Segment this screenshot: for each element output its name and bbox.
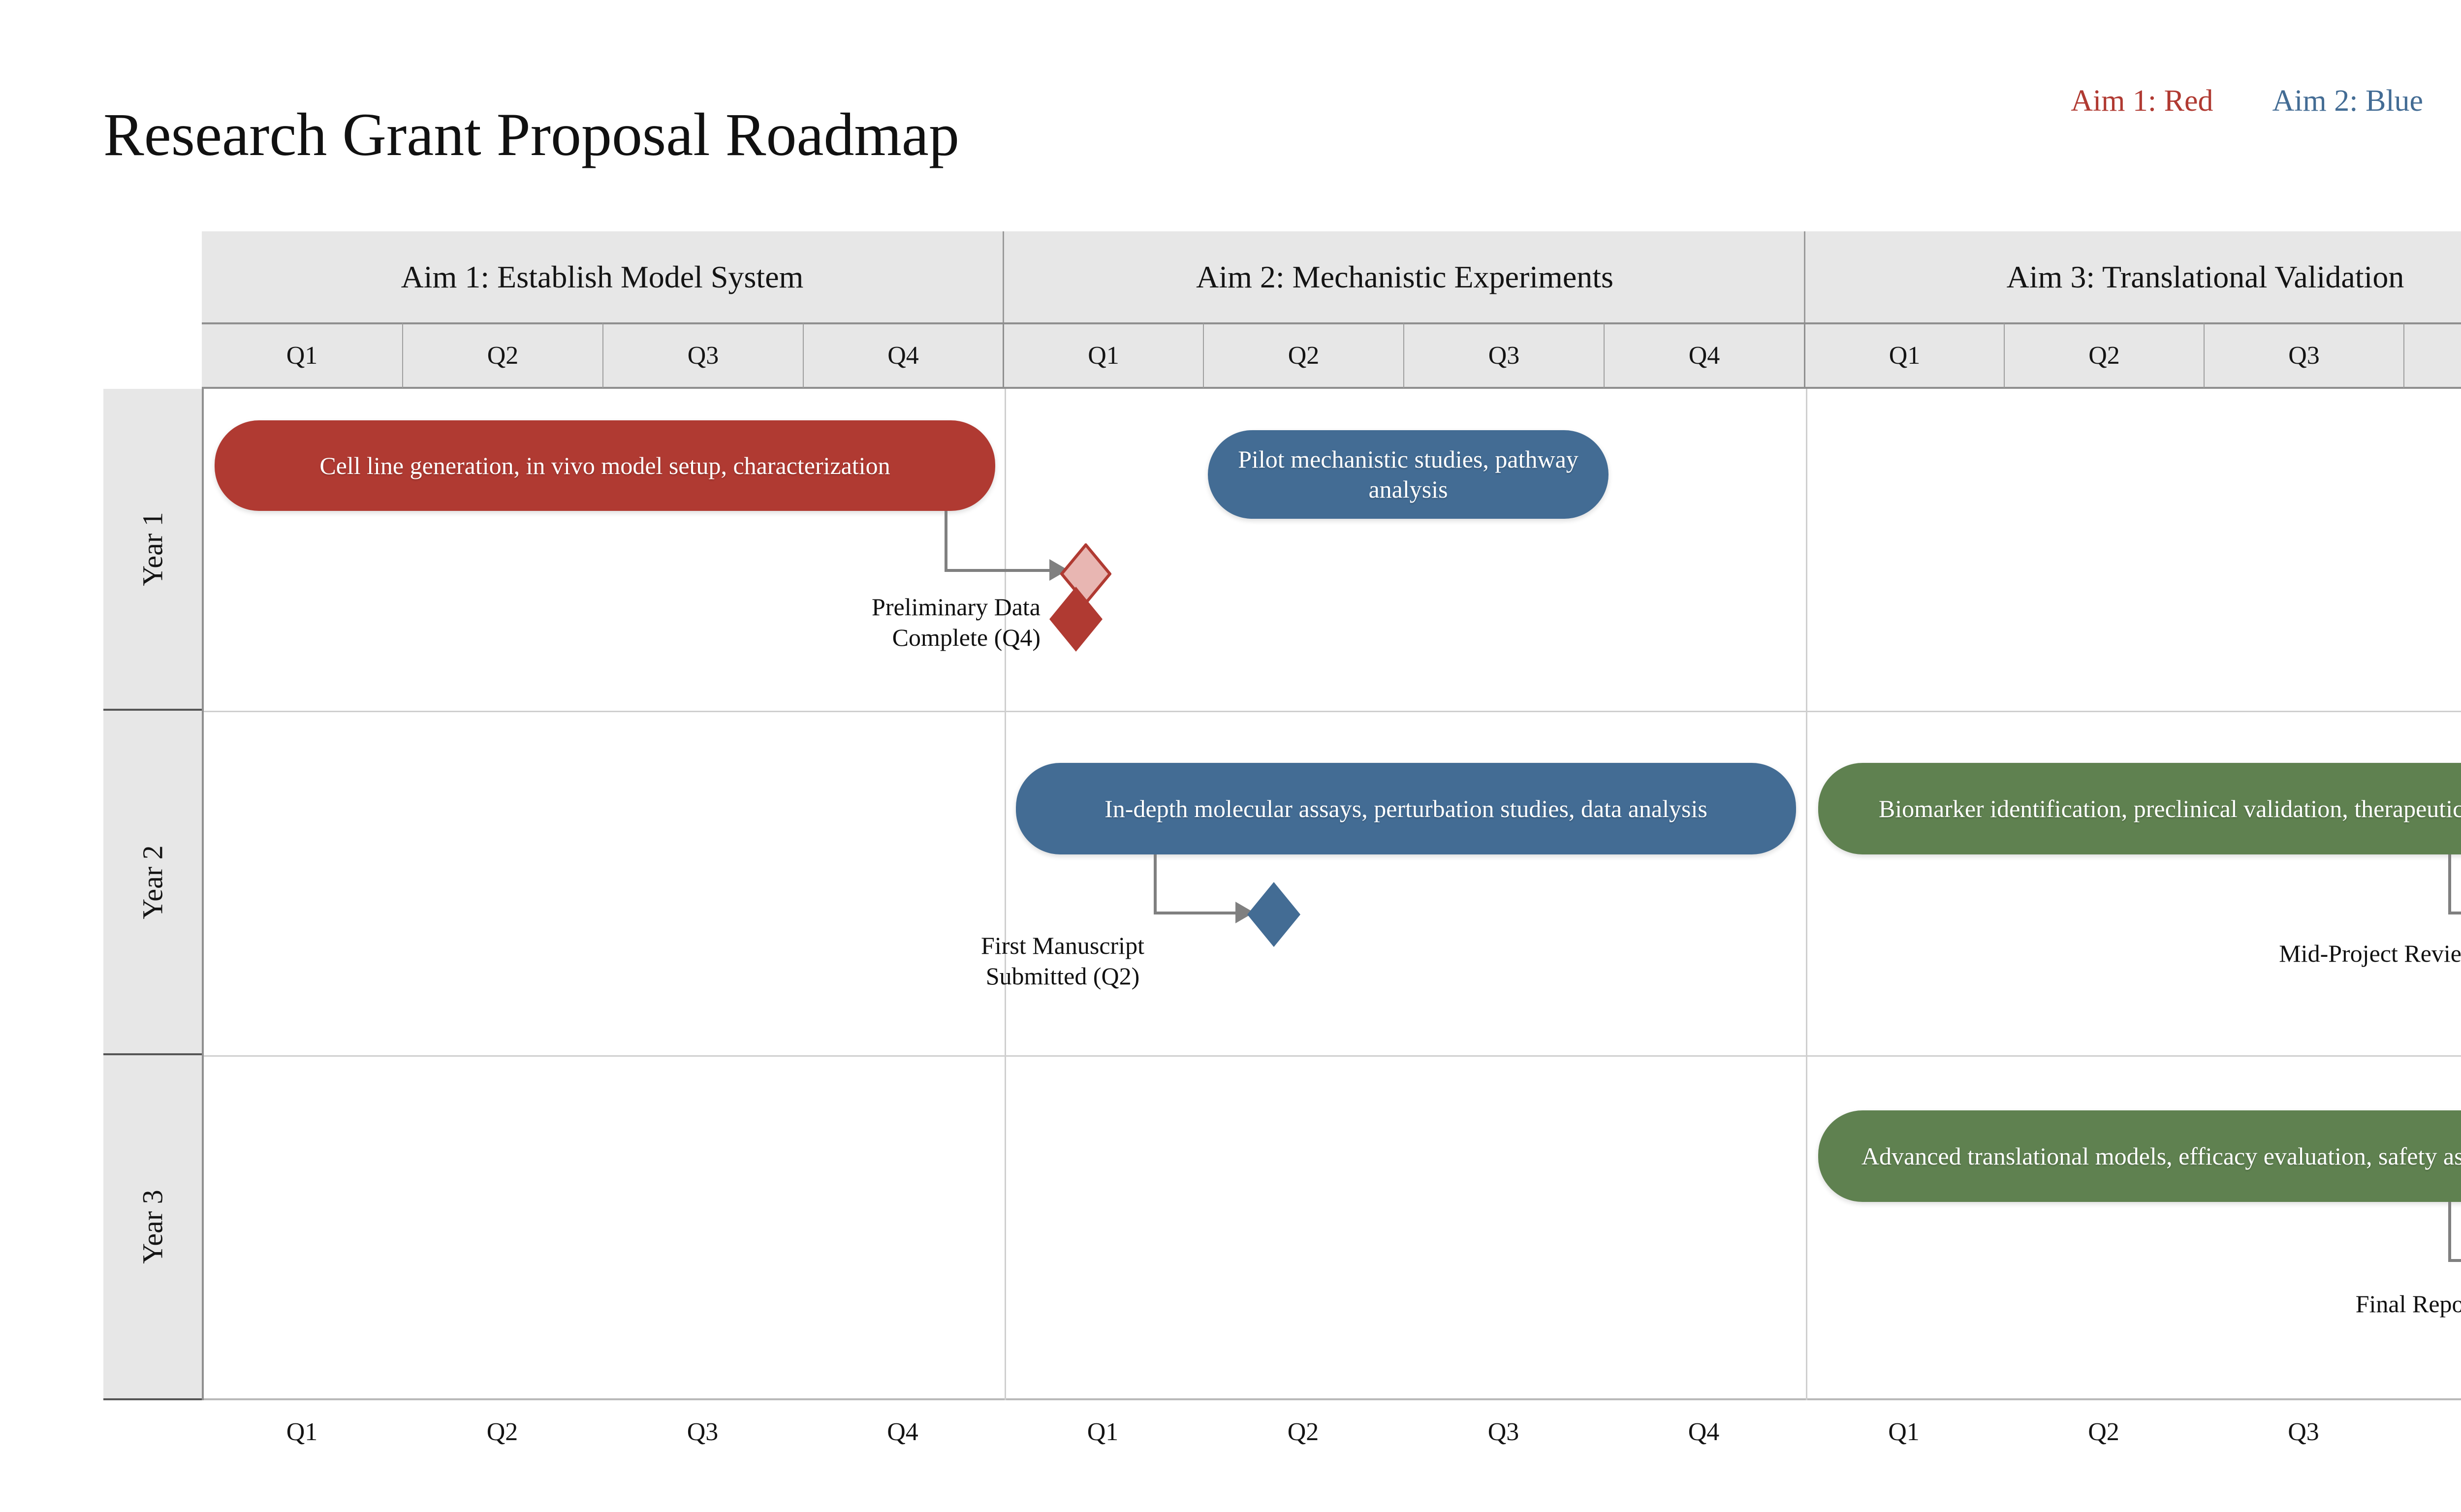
legend-item-aim1: Aim 1: Red xyxy=(2071,84,2213,119)
milestone-connector-h-m3 xyxy=(2448,912,2461,914)
quarter-axis: Q1 Q2 Q3 Q4 Q1 Q2 Q3 Q4 Q1 Q2 Q3 Q4 xyxy=(202,1417,2461,1472)
plot-area: Cell line generation, in vivo model setu… xyxy=(202,389,2461,1400)
task-bar-t3[interactable]: In-depth molecular assays, perturbation … xyxy=(1016,763,1796,854)
page-title: Research Grant Proposal Roadmap xyxy=(103,100,959,170)
aim-header-1: Aim 1: Establish Model System xyxy=(202,231,1003,322)
axis-tick-a2q4: Q4 xyxy=(1604,1417,1804,1447)
year-label-2: Year 2 xyxy=(136,845,169,919)
task-bar-t2[interactable]: Pilot mechanistic studies, pathway analy… xyxy=(1208,430,1609,519)
row-separator-1 xyxy=(204,711,2461,712)
quarter-header-a2q2: Q2 xyxy=(1203,322,1403,389)
axis-tick-a1q4: Q4 xyxy=(803,1417,1003,1447)
quarter-header-a1q3: Q3 xyxy=(602,322,803,389)
axis-tick-a2q1: Q1 xyxy=(1003,1417,1203,1447)
quarter-header-a3q3: Q3 xyxy=(2204,322,2403,389)
milestone-connector-v-m4 xyxy=(2448,1202,2451,1260)
axis-tick-a1q3: Q3 xyxy=(602,1417,803,1447)
milestone-label-m4: Final Report (Q4) xyxy=(2025,1289,2461,1319)
milestone-connector-v-m3 xyxy=(2448,854,2451,913)
quarter-header-a2q1: Q1 xyxy=(1003,322,1203,389)
milestone-connector-v-m1 xyxy=(945,511,947,570)
year-label-1: Year 1 xyxy=(136,512,169,586)
task-bar-t5[interactable]: Advanced translational models, efficacy … xyxy=(1818,1110,2461,1202)
axis-tick-a3q2: Q2 xyxy=(2004,1417,2204,1447)
quarter-header-a3q4: Q4 xyxy=(2403,322,2461,389)
milestone-connector-v-m2 xyxy=(1154,854,1157,913)
year-label-cell-2: Year 2 xyxy=(103,711,202,1055)
aim-header-2: Aim 2: Mechanistic Experiments xyxy=(1003,231,1805,322)
quarter-header-a1q2: Q2 xyxy=(402,322,602,389)
legend: Aim 1: Red Aim 2: Blue Aim 3: Green xyxy=(2071,84,2461,119)
milestone-label-m1: Preliminary Data Complete (Q4) xyxy=(637,592,1041,653)
axis-tick-a1q2: Q2 xyxy=(402,1417,602,1447)
aim-separator-1 xyxy=(1005,389,1006,1400)
aim-separator-2 xyxy=(1806,389,1807,1400)
axis-tick-a2q3: Q3 xyxy=(1403,1417,1604,1447)
milestone-connector-h-m4 xyxy=(2448,1259,2461,1262)
quarter-header-a1q1: Q1 xyxy=(202,322,402,389)
axis-tick-a2q2: Q2 xyxy=(1203,1417,1403,1447)
aim-header-3: Aim 3: Translational Validation xyxy=(1804,231,2461,322)
task-bar-t4[interactable]: Biomarker identification, preclinical va… xyxy=(1818,763,2461,854)
quarter-header-a3q1: Q1 xyxy=(1804,322,2004,389)
milestone-icon-m1 xyxy=(1048,586,1104,653)
task-bar-t1[interactable]: Cell line generation, in vivo model setu… xyxy=(215,420,995,511)
year-label-cell-1: Year 1 xyxy=(103,389,202,711)
milestone-connector-h-m2 xyxy=(1154,912,1236,914)
quarter-header-a2q3: Q3 xyxy=(1403,322,1604,389)
year-label-3: Year 3 xyxy=(136,1190,169,1263)
plot-bottom-border xyxy=(204,1398,2461,1400)
milestone-label-m2: First Manuscript Submitted (Q2) xyxy=(849,930,1277,991)
year-label-cell-3: Year 3 xyxy=(103,1055,202,1400)
row-separator-2 xyxy=(204,1055,2461,1057)
milestone-connector-h-m1 xyxy=(945,569,1050,572)
quarter-header-a1q4: Q4 xyxy=(803,322,1003,389)
axis-tick-a1q1: Q1 xyxy=(202,1417,402,1447)
quarter-header-a2q4: Q4 xyxy=(1604,322,1804,389)
legend-item-aim2: Aim 2: Blue xyxy=(2272,84,2424,119)
quarter-header-a3q2: Q2 xyxy=(2004,322,2204,389)
milestone-label-m3: Mid-Project Review (Q4) xyxy=(1976,938,2461,969)
axis-tick-a3q1: Q1 xyxy=(1804,1417,2004,1447)
axis-tick-a3q3: Q3 xyxy=(2204,1417,2403,1447)
axis-tick-a3q4: Q4 xyxy=(2403,1417,2461,1447)
gantt-chart: Aim 1: Establish Model System Aim 2: Mec… xyxy=(103,231,2461,1400)
